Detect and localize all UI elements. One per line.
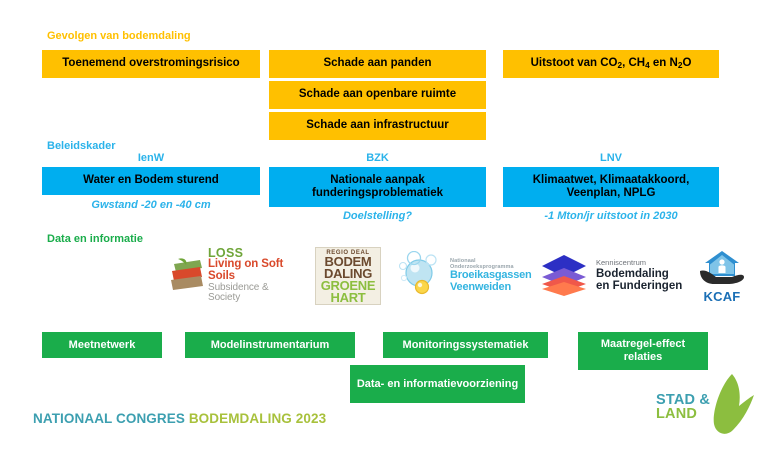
consequence-box-infrastructure-damage[interactable]: Schade aan infrastructuur (269, 112, 486, 140)
data-box-monitoringssystematiek[interactable]: Monitoringssystematiek (383, 332, 548, 358)
section-heading-policy: Beleidskader (47, 140, 115, 152)
logo-stad-en-land: STAD & LAND (640, 372, 758, 438)
policy-box-water-en-bodem-sturend[interactable]: Water en Bodem sturend (42, 167, 260, 195)
loss-line-3: Subsidence & Society (208, 283, 300, 303)
footer-title-part-1: NATIONAAL CONGRES (33, 411, 189, 426)
policy-annotation-bzk: Doelstelling? (269, 210, 486, 222)
policy-annotation-ienw: Gwstand -20 en -40 cm (42, 199, 260, 211)
slide-canvas: Gevolgen van bodemdaling Toenemend overs… (0, 0, 768, 458)
consequence-box-flood-risk[interactable]: Toenemend overstromingsrisico (42, 50, 260, 78)
kenniscentrum-line-1: Bodemdaling (596, 268, 682, 280)
logo-kenniscentrum-bodemdaling-en-funderingen: Kenniscentrum Bodemdaling en Funderingen (538, 252, 688, 300)
footer-title-part-2: BODEMDALING 2023 (189, 411, 326, 426)
consequence-box-building-damage[interactable]: Schade aan panden (269, 50, 486, 78)
consequence-box-public-space-damage[interactable]: Schade aan openbare ruimte (269, 81, 486, 109)
kenniscentrum-kicker: Kenniscentrum (596, 259, 682, 267)
data-box-meetnetwerk[interactable]: Meetnetwerk (42, 332, 162, 358)
policy-box-nationale-aanpak[interactable]: Nationale aanpak funderingsproblematiek (269, 167, 486, 207)
logo-loss: LOSS Living on Soft Soils Subsidence & S… (170, 250, 300, 300)
regio-deal-line-4: HART (331, 292, 366, 304)
data-box-modelinstrumentarium[interactable]: Modelinstrumentarium (185, 332, 355, 358)
kenniscentrum-wordmark: Kenniscentrum Bodemdaling en Funderingen (596, 259, 682, 292)
loss-wordmark: LOSS Living on Soft Soils Subsidence & S… (208, 247, 300, 304)
bubbles-icon (398, 251, 448, 302)
loss-mark-icon (170, 256, 204, 294)
policy-annotation-lnv: -1 Mton/jr uitstoot in 2030 (503, 210, 719, 222)
emissions-label: Uitstoot van CO2, CH4 en N2O (531, 57, 692, 70)
loss-line-2: Living on Soft Soils (208, 259, 300, 282)
broeikasgassen-line-2: Veenweiden (450, 282, 532, 293)
broeikasgassen-wordmark: Nationaal Onderzoeksprogramma Broeikasga… (450, 259, 532, 293)
logo-broeikasgassen-veenweiden: Nationaal Onderzoeksprogramma Broeikasga… (398, 252, 528, 300)
data-box-maatregel-effect-relaties[interactable]: Maatregel-effect relaties (578, 332, 708, 370)
logo-kcaf: KCAF (694, 250, 750, 302)
stacked-layers-icon (538, 251, 590, 302)
ministry-label-lnv: LNV (503, 152, 719, 164)
section-heading-consequences: Gevolgen van bodemdaling (47, 30, 191, 42)
kenniscentrum-line-2: en Funderingen (596, 280, 682, 292)
section-heading-data: Data en informatie (47, 233, 143, 245)
policy-box-klimaatwet[interactable]: Klimaatwet, Klimaatakkoord, Veenplan, NP… (503, 167, 719, 207)
data-box-data-en-informatievoorziening[interactable]: Data- en informatievoorziening (350, 365, 525, 403)
ministry-label-ienw: IenW (42, 152, 260, 164)
hand-holding-house-icon (698, 249, 746, 290)
ministry-label-bzk: BZK (269, 152, 486, 164)
stad-land-line-2: LAND (656, 408, 697, 422)
logo-regio-deal-bodemdaling-groene-hart: REGIO DEAL BODEM DALING GROENE HART (315, 247, 381, 305)
footer-congress-title: NATIONAAL CONGRES BODEMDALING 2023 (33, 411, 326, 426)
consequence-box-emissions[interactable]: Uitstoot van CO2, CH4 en N2O (503, 50, 719, 78)
kcaf-label: KCAF (704, 289, 741, 304)
